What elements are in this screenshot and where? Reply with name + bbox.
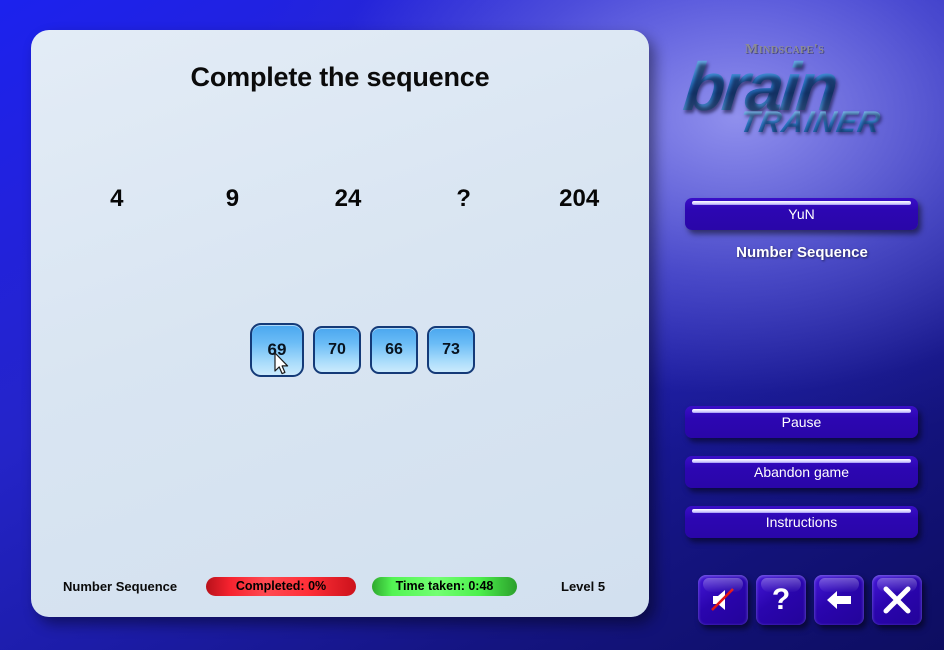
sequence-term: 24 xyxy=(290,185,406,213)
sequence-term: 4 xyxy=(59,185,175,213)
close-button[interactable] xyxy=(872,575,922,625)
answer-option-button[interactable]: 69 xyxy=(250,323,304,377)
abandon-game-button[interactable]: Abandon game xyxy=(685,456,918,488)
status-badge-time: Time taken: 0:48 xyxy=(372,577,517,596)
icon-button-row: ? xyxy=(698,575,922,625)
sound-muted-button[interactable] xyxy=(698,575,748,625)
help-button[interactable]: ? xyxy=(756,575,806,625)
logo-trainer-text: TRAINER xyxy=(737,106,883,140)
status-bar: Number Sequence Completed: 0% Time taken… xyxy=(31,575,649,597)
current-game-label: Number Sequence xyxy=(660,244,944,261)
status-badge-completed: Completed: 0% xyxy=(206,577,356,596)
brain-trainer-logo: Mindscape's brain brain TRAINER TRAINER xyxy=(668,34,936,146)
page-title: Complete the sequence xyxy=(31,62,649,93)
player-name-button[interactable]: YuN xyxy=(685,198,918,230)
status-level: Level 5 xyxy=(561,579,605,594)
sound-muted-icon xyxy=(708,585,738,615)
answer-options-row: 69 70 66 73 xyxy=(250,320,475,380)
help-icon: ? xyxy=(772,585,790,615)
pause-button[interactable]: Pause xyxy=(685,406,918,438)
sequence-term: 204 xyxy=(521,185,637,213)
sequence-term-missing: ? xyxy=(406,185,522,213)
sequence-term: 9 xyxy=(175,185,291,213)
status-game-name: Number Sequence xyxy=(63,579,177,594)
answer-option-button[interactable]: 70 xyxy=(313,326,361,374)
game-window: Complete the sequence 4 9 24 ? 204 69 70… xyxy=(0,0,944,650)
game-panel: Complete the sequence 4 9 24 ? 204 69 70… xyxy=(31,30,649,617)
instructions-button[interactable]: Instructions xyxy=(685,506,918,538)
answer-option-button[interactable]: 66 xyxy=(370,326,418,374)
number-sequence-row: 4 9 24 ? 204 xyxy=(59,174,637,224)
sidebar: Mindscape's brain brain TRAINER TRAINER … xyxy=(660,0,944,650)
back-button[interactable] xyxy=(814,575,864,625)
answer-option-button[interactable]: 73 xyxy=(427,326,475,374)
back-arrow-icon xyxy=(824,585,854,615)
close-icon xyxy=(881,584,913,616)
